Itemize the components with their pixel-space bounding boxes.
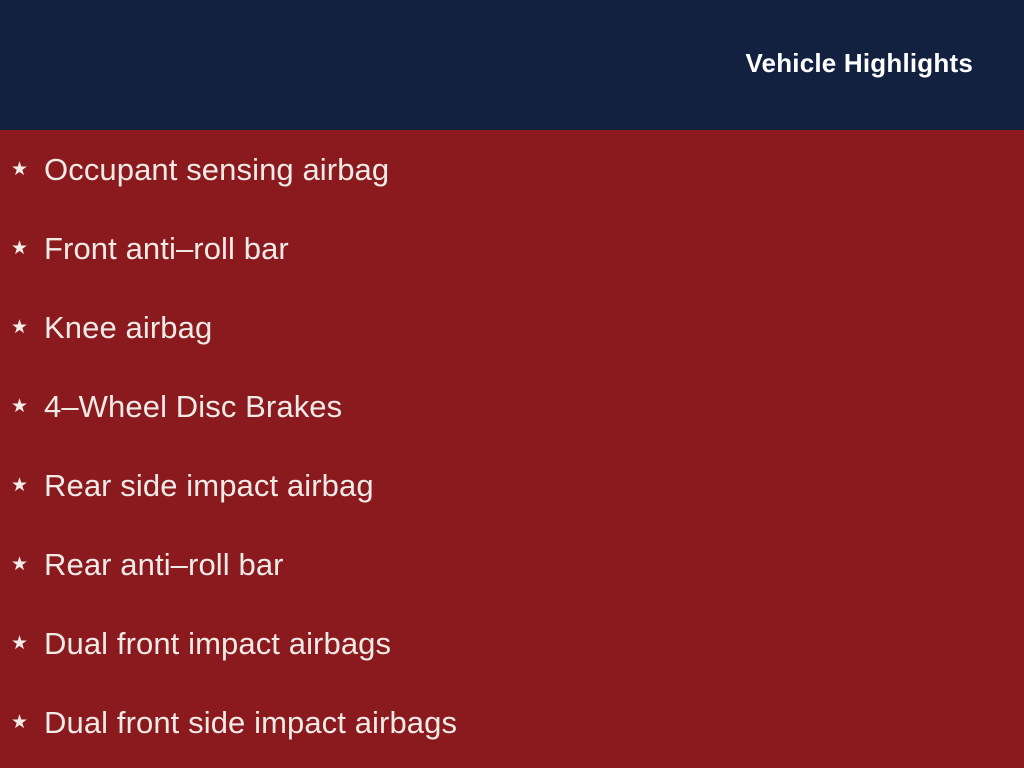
- star-icon: ★: [11, 634, 33, 653]
- list-item-label: Occupant sensing airbag: [44, 154, 389, 185]
- list-item: ★ Front anti–roll bar: [11, 228, 289, 268]
- list-item-label: Rear side impact airbag: [44, 470, 374, 501]
- star-icon: ★: [11, 160, 33, 179]
- list-item-label: 4–Wheel Disc Brakes: [44, 391, 342, 422]
- list-item-label: Dual front impact airbags: [44, 628, 391, 659]
- list-item: ★ 4–Wheel Disc Brakes: [11, 386, 342, 426]
- list-item: ★ Occupant sensing airbag: [11, 149, 389, 189]
- list-item-label: Rear anti–roll bar: [44, 549, 284, 580]
- slide-header: Vehicle Highlights: [0, 0, 1024, 130]
- page-title: Vehicle Highlights: [745, 48, 973, 79]
- star-icon: ★: [11, 318, 33, 337]
- list-item: ★ Dual front side impact airbags: [11, 702, 457, 742]
- list-item: ★ Knee airbag: [11, 307, 212, 347]
- star-icon: ★: [11, 713, 33, 732]
- list-item: ★ Rear side impact airbag: [11, 465, 374, 505]
- slide-body: ★ Occupant sensing airbag ★ Front anti–r…: [0, 130, 1024, 768]
- star-icon: ★: [11, 555, 33, 574]
- list-item: ★ Dual front impact airbags: [11, 623, 391, 663]
- star-icon: ★: [11, 239, 33, 258]
- star-icon: ★: [11, 476, 33, 495]
- list-item-label: Front anti–roll bar: [44, 233, 289, 264]
- star-icon: ★: [11, 397, 33, 416]
- list-item-label: Knee airbag: [44, 312, 212, 343]
- slide-vehicle-highlights: Vehicle Highlights ★ Occupant sensing ai…: [0, 0, 1024, 768]
- list-item: ★ Rear anti–roll bar: [11, 544, 284, 584]
- list-item-label: Dual front side impact airbags: [44, 707, 457, 738]
